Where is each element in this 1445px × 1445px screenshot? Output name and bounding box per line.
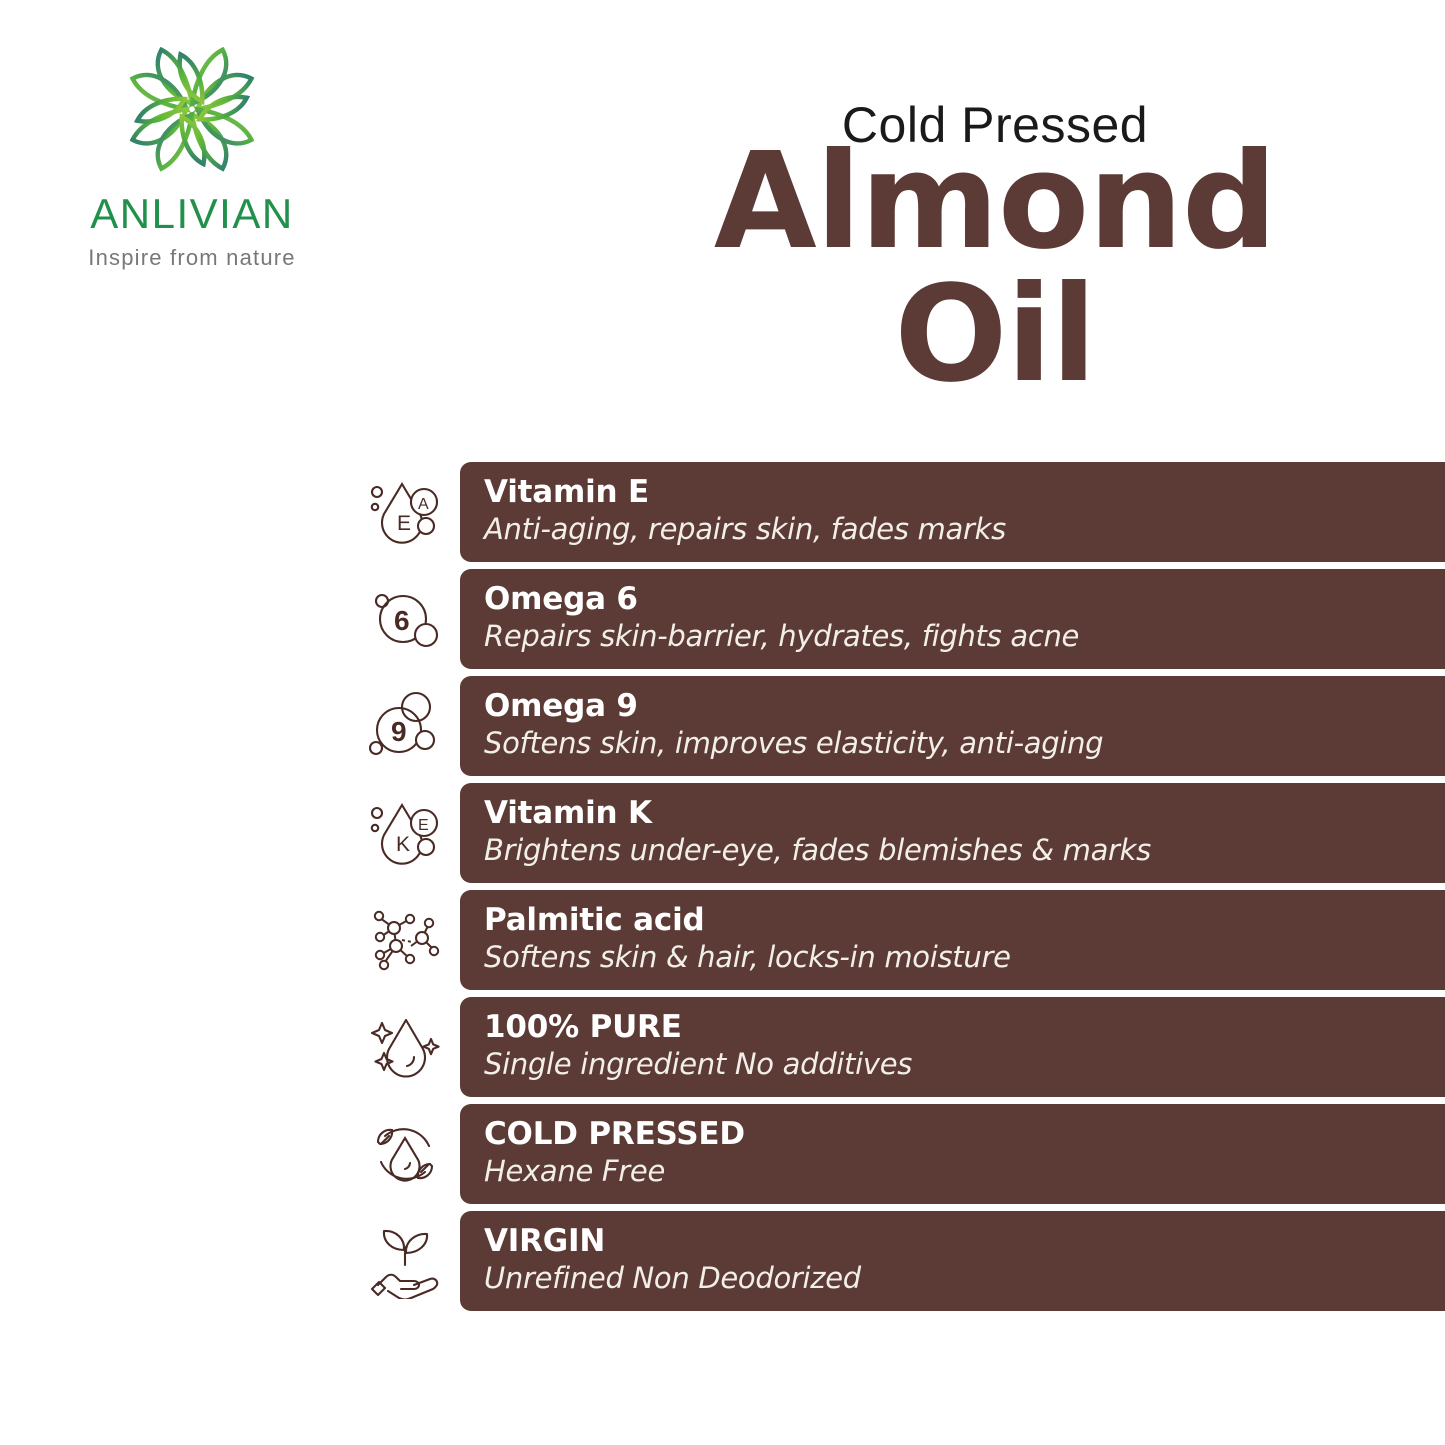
feature-title: Omega 9: [484, 689, 1445, 724]
feature-bar: Omega 6 Repairs skin-barrier, hydrates, …: [460, 569, 1445, 669]
feature-title: Vitamin K: [484, 796, 1445, 831]
feature-title: Palmitic acid: [484, 903, 1445, 938]
feature-desc: Softens skin, improves elasticity, anti-…: [484, 726, 1445, 761]
feature-title: VIRGIN: [484, 1224, 1445, 1259]
feature-row: COLD PRESSED Hexane Free: [0, 1104, 1445, 1204]
sparkle-droplet-icon: [368, 1009, 442, 1085]
feature-row: 9 Omega 9 Softens skin, improves elastic…: [0, 676, 1445, 776]
vitamin-e-droplet-icon: E A: [368, 474, 442, 550]
feature-title: 100% PURE: [484, 1010, 1445, 1045]
feature-desc: Repairs skin-barrier, hydrates, fights a…: [484, 619, 1445, 654]
feature-desc: Softens skin & hair, locks-in moisture: [484, 940, 1445, 975]
feature-row: 100% PURE Single ingredient No additives: [0, 997, 1445, 1097]
feature-desc: Unrefined Non Deodorized: [484, 1261, 1445, 1296]
svg-text:E: E: [418, 817, 429, 834]
product-title-block: Cold Pressed Almond Oil: [595, 100, 1395, 402]
leaf-mandala-icon: [102, 30, 282, 185]
feature-row: E A Vitamin E Anti-aging, repairs skin, …: [0, 462, 1445, 562]
feature-bar: Palmitic acid Softens skin & hair, locks…: [460, 890, 1445, 990]
svg-text:A: A: [418, 496, 429, 513]
brand-logo-block: ANLIVIAN Inspire from nature: [62, 30, 322, 269]
molecule-icon: [368, 902, 442, 978]
feature-title: Omega 6: [484, 582, 1445, 617]
feature-row: K E Vitamin K Brightens under-eye, fades…: [0, 783, 1445, 883]
svg-text:9: 9: [391, 716, 407, 747]
feature-desc: Hexane Free: [484, 1154, 1445, 1189]
hand-sprout-icon: [368, 1223, 442, 1299]
feature-desc: Single ingredient No additives: [484, 1047, 1445, 1082]
omega-9-bubble-icon: 9: [368, 688, 442, 764]
svg-text:6: 6: [394, 605, 410, 636]
feature-bar: Omega 9 Softens skin, improves elasticit…: [460, 676, 1445, 776]
title-eyebrow: Cold Pressed: [595, 100, 1395, 150]
feature-list: E A Vitamin E Anti-aging, repairs skin, …: [0, 462, 1445, 1318]
brand-name: ANLIVIAN: [62, 193, 322, 235]
brand-tagline: Inspire from nature: [62, 247, 322, 269]
vitamin-k-droplet-icon: K E: [368, 795, 442, 871]
feature-row: Palmitic acid Softens skin & hair, locks…: [0, 890, 1445, 990]
feature-bar: COLD PRESSED Hexane Free: [460, 1104, 1445, 1204]
svg-text:K: K: [396, 833, 410, 856]
feature-desc: Brightens under-eye, fades blemishes & m…: [484, 833, 1445, 868]
feature-bar: Vitamin E Anti-aging, repairs skin, fade…: [460, 462, 1445, 562]
feature-row: 6 Omega 6 Repairs skin-barrier, hydrates…: [0, 569, 1445, 669]
feature-bar: VIRGIN Unrefined Non Deodorized: [460, 1211, 1445, 1311]
feature-desc: Anti-aging, repairs skin, fades marks: [484, 512, 1445, 547]
feature-bar: 100% PURE Single ingredient No additives: [460, 997, 1445, 1097]
page-title: Almond Oil: [595, 136, 1395, 402]
omega-6-bubble-icon: 6: [368, 581, 442, 657]
feature-bar: Vitamin K Brightens under-eye, fades ble…: [460, 783, 1445, 883]
droplet-leaves-circle-icon: [368, 1116, 442, 1192]
feature-title: COLD PRESSED: [484, 1117, 1445, 1152]
feature-title: Vitamin E: [484, 475, 1445, 510]
feature-row: VIRGIN Unrefined Non Deodorized: [0, 1211, 1445, 1311]
svg-text:E: E: [397, 512, 411, 535]
